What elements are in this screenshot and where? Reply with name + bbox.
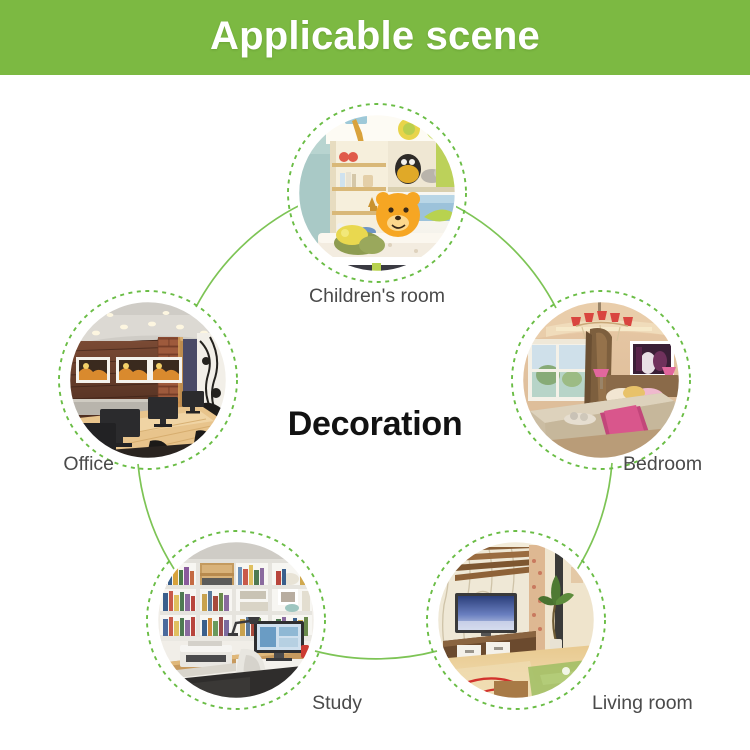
connector-living-study [315,651,437,659]
node-office[interactable] [59,291,237,469]
header-band: Applicable scene [0,0,750,75]
page-title: Applicable scene [0,0,750,75]
label-childrens-room: Children's room [309,285,445,308]
label-office: Office [63,453,114,476]
label-living-room: Living room [592,692,693,715]
diagram-canvas [0,75,750,750]
node-living-room[interactable] [427,531,605,709]
applicable-scene-infographic: Applicable scene [0,0,750,750]
node-bedroom[interactable] [512,291,690,469]
label-study: Study [312,692,362,715]
connector-study-office [138,464,178,575]
node-study[interactable] [147,531,325,709]
connector-bedroom-living [573,463,612,576]
node-childrens-room[interactable] [288,104,466,282]
label-bedroom: Bedroom [623,453,702,476]
scene-diagram: Decoration Children's room Bedroom Livin… [0,75,750,750]
